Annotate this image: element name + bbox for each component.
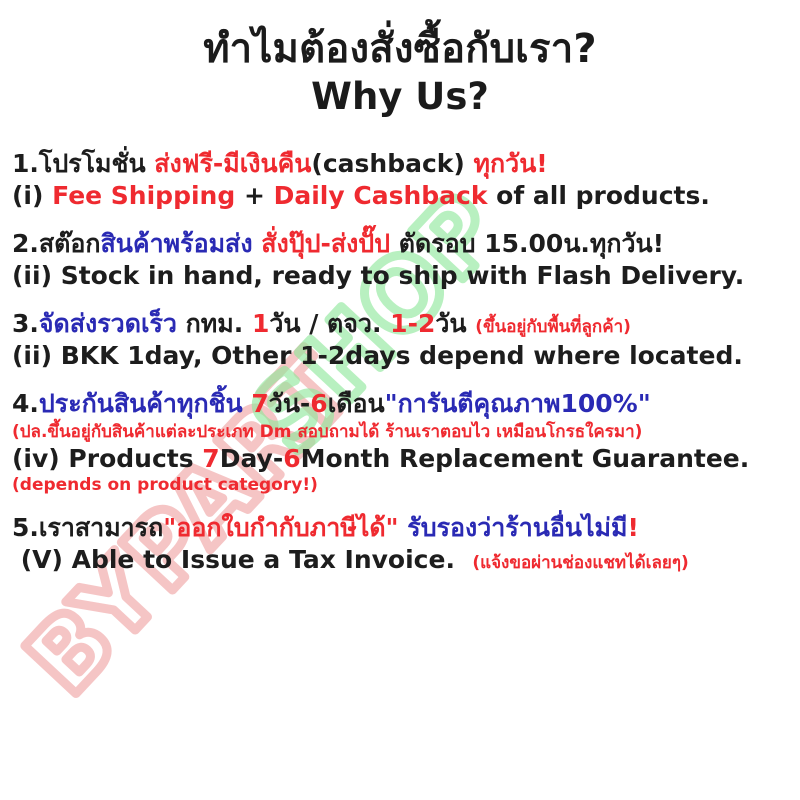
page-title-english: Why Us? — [0, 75, 800, 119]
thai_line-segment: 1-2 — [390, 309, 435, 338]
reason-english-line: (ii) BKK 1day, Other 1-2days depend wher… — [12, 340, 790, 372]
thai_line-segment: "การันตีคุณภาพ100%" — [385, 389, 651, 418]
page-title-thai: ทำไมต้องสั่งซื้อกับเรา? — [0, 26, 800, 73]
thai_line-segment: สั่งปุ๊ป-ส่งปั๊ป — [261, 229, 390, 258]
english_line-segment: 6 — [283, 444, 300, 473]
english_line-segment: Fee Shipping — [52, 181, 235, 210]
english_line-segment: (แจ้งขอผ่านช่องแชทได้เลยๆ) — [472, 553, 688, 573]
reason-item: 2.สต๊อกสินค้าพร้อมส่ง สั่งปุ๊ป-ส่งปั๊ป ต… — [12, 228, 790, 292]
thai_line-segment: ประกันสินค้าทุกชิ้น — [39, 389, 243, 418]
thai_line-segment: 2.สต๊อก — [12, 229, 101, 258]
english_line-segment: of all products. — [487, 181, 709, 210]
english_line-segment: Month Replacement Guarantee. — [301, 444, 750, 473]
thai_line-segment: 3. — [12, 309, 39, 338]
thai_line-segment — [399, 513, 408, 542]
thai_line-segment: "ออกใบกำกับภาษีได้" — [163, 513, 398, 542]
thai_line-segment: 6 — [310, 389, 327, 418]
english_line-segment: (V) Able to Issue a Tax Invoice. — [12, 545, 472, 574]
english_line-segment: (ii) Stock in hand, ready to ship with F… — [12, 261, 744, 290]
reason-thai-line: 1.โปรโมชั่น ส่งฟรี-มีเงินคืน(cashback) ท… — [12, 148, 790, 180]
reason-english-line: (i) Fee Shipping + Daily Cashback of all… — [12, 180, 790, 212]
reason-item: 3.จัดส่งรวดเร็ว กทม. 1วัน / ตจว. 1-2วัน … — [12, 308, 790, 372]
thai_line-segment: กทม. — [177, 309, 252, 338]
reason-english-line: (iv) Products 7Day-6Month Replacement Gu… — [12, 443, 790, 475]
thai_line-segment: รับรองว่าร้านอื่นไม่มี — [407, 513, 627, 542]
thai_line-segment: ตัดรอบ 15.00น.ทุกวัน! — [390, 229, 664, 258]
thai_line-segment: วัน — [435, 309, 475, 338]
reason-item: 4.ประกันสินค้าทุกชิ้น 7วัน-6เดือน"การันต… — [12, 388, 790, 497]
english_line-segment: (iv) Products — [12, 444, 202, 473]
poster-heading: ทำไมต้องสั่งซื้อกับเรา? Why Us? — [0, 0, 800, 120]
reason-item: 5.เราสามารถ"ออกใบกำกับภาษีได้" รับรองว่า… — [12, 512, 790, 576]
english_line-segment: Daily Cashback — [274, 181, 488, 210]
thai_line-segment: 7 — [251, 389, 268, 418]
thai_line-segment: สินค้าพร้อมส่ง — [101, 229, 253, 258]
thai_line-segment: ! — [628, 513, 639, 542]
reason-english-line: (ii) Stock in hand, ready to ship with F… — [12, 260, 790, 292]
thai_line-segment — [253, 229, 262, 258]
reason-english-line: (V) Able to Issue a Tax Invoice. (แจ้งขอ… — [12, 544, 790, 576]
why-us-poster: BYPART SHOP ทำไมต้องสั่งซื้อกับเรา? Why … — [0, 0, 800, 800]
thai_line-segment: เดือน — [328, 389, 385, 418]
reason-thai-line: 2.สต๊อกสินค้าพร้อมส่ง สั่งปุ๊ป-ส่งปั๊ป ต… — [12, 228, 790, 260]
english_line-segment: (i) — [12, 181, 52, 210]
reason-thai-line: 4.ประกันสินค้าทุกชิ้น 7วัน-6เดือน"การันต… — [12, 388, 790, 420]
thai_line-segment: (cashback) — [311, 149, 473, 178]
thai_line-segment: 1.โปรโมชั่น — [12, 149, 154, 178]
note_line-segment: (depends on product category!) — [12, 475, 318, 495]
thai_line-segment: 5.เราสามารถ — [12, 513, 163, 542]
english_line-segment: Day- — [220, 444, 284, 473]
thai_line-segment: (ขึ้นอยู่กับพื้นที่ลูกค้า) — [475, 317, 631, 337]
thai_line-segment: ส่งฟรี-มีเงินคืน — [154, 149, 311, 178]
reasons-list: 1.โปรโมชั่น ส่งฟรี-มีเงินคืน(cashback) ท… — [0, 148, 800, 577]
english_line-segment: + — [235, 181, 273, 210]
english_line-segment: 7 — [202, 444, 219, 473]
thai_line-segment: จัดส่งรวดเร็ว — [39, 309, 177, 338]
english_line-segment: (ii) BKK 1day, Other 1-2days depend wher… — [12, 341, 743, 370]
thai_line-segment: วัน / ตจว. — [269, 309, 390, 338]
reason-thai-line: 3.จัดส่งรวดเร็ว กทม. 1วัน / ตจว. 1-2วัน … — [12, 308, 790, 340]
reason-thai-note: (ปล.ขึ้นอยู่กับสินค้าแต่ละประเภท Dm สอบถ… — [12, 422, 790, 443]
thai_line-segment: วัน- — [269, 389, 311, 418]
thai_line-segment: 4. — [12, 389, 39, 418]
thai_note-segment: (ปล.ขึ้นอยู่กับสินค้าแต่ละประเภท Dm สอบถ… — [12, 422, 642, 442]
reason-item: 1.โปรโมชั่น ส่งฟรี-มีเงินคืน(cashback) ท… — [12, 148, 790, 212]
thai_line-segment: ทุกวัน! — [474, 149, 548, 178]
reason-thai-line: 5.เราสามารถ"ออกใบกำกับภาษีได้" รับรองว่า… — [12, 512, 790, 544]
thai_line-segment: 1 — [252, 309, 269, 338]
reason-note-line: (depends on product category!) — [12, 475, 790, 496]
